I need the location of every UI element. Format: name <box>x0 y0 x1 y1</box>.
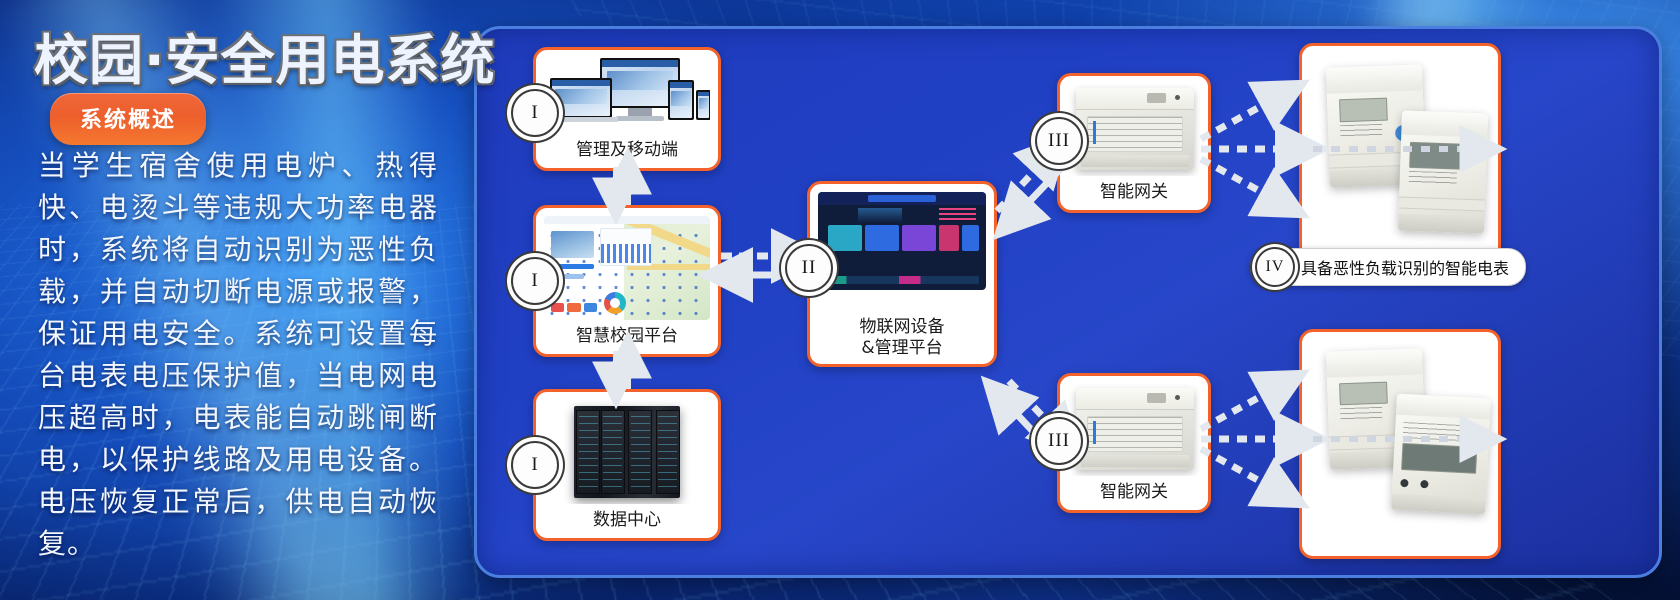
single-phase-meter-icon-2 <box>1398 111 1488 234</box>
badge-numeral-ii-iot: II <box>785 244 833 292</box>
badge-numeral-iii-gateway-top: III <box>1035 117 1083 165</box>
badge-numeral-i-admin: I <box>511 89 559 137</box>
server-rack-icon <box>574 406 680 498</box>
gateway-device-icon <box>1076 388 1194 470</box>
arrow-admin-campus <box>616 167 628 205</box>
node-admin-mobile[interactable]: 管理及移动端 <box>533 47 721 171</box>
node-iot-platform-label-line1: 物联网设备 <box>810 317 994 338</box>
meter-group-bottom[interactable] <box>1299 329 1501 559</box>
node-gateway-bottom-label: 智能网关 <box>1060 482 1208 503</box>
section-badge: 系统概述 <box>50 93 206 145</box>
phone-icon <box>696 90 710 120</box>
gateway-bottom-thumbnail <box>1068 384 1200 476</box>
architecture-diagram-panel: 管理及移动端 I 智慧校园平台 I <box>474 26 1662 578</box>
node-smart-campus[interactable]: 智慧校园平台 <box>533 205 721 357</box>
monitor-stand <box>628 108 652 116</box>
monitor-base <box>616 116 664 121</box>
meter-group-label: 具备恶性负载识别的智能电表 <box>1301 255 1509 279</box>
page-title: 校园·安全用电系统 <box>34 16 454 95</box>
node-iot-platform-label-line2: &管理平台 <box>810 338 994 359</box>
tablet-icon <box>668 80 694 120</box>
arrow-gateway-bottom-meters <box>1201 381 1307 497</box>
badge-numeral-iv: IV <box>1255 247 1295 287</box>
gateway-top-thumbnail <box>1068 84 1200 176</box>
iot-platform-thumbnail <box>818 192 986 290</box>
badge-numeral-i-datacenter: I <box>511 441 559 489</box>
overview-paragraph: 当学生宿舍使用电炉、热得快、电烫斗等违规大功率电器时，系统将自动识别为恶性负载，… <box>38 145 438 565</box>
campus-platform-screenshot <box>544 216 710 320</box>
node-data-center-label: 数据中心 <box>536 510 718 531</box>
gateway-device-icon <box>1076 88 1194 170</box>
data-center-thumbnail <box>544 400 710 504</box>
arrow-gateway-top-meters <box>1201 91 1307 207</box>
node-admin-mobile-label: 管理及移动端 <box>536 140 718 161</box>
laptop-icon <box>550 78 612 118</box>
overview-column: 校园·安全用电系统 系统概述 当学生宿舍使用电炉、热得快、电烫斗等违规大功率电器… <box>0 0 470 600</box>
iot-dashboard-screenshot <box>818 192 986 290</box>
badge-numeral-i-campus: I <box>511 257 559 305</box>
badge-numeral-iii-gateway-bottom: III <box>1035 417 1083 465</box>
node-iot-platform[interactable]: 物联网设备 &管理平台 <box>807 181 997 367</box>
meter-group-callout[interactable]: IV 具备恶性负载识别的智能电表 <box>1250 248 1526 286</box>
three-phase-meter-icon <box>1391 394 1491 515</box>
node-data-center[interactable]: 数据中心 <box>533 389 721 541</box>
smart-campus-thumbnail <box>544 216 710 320</box>
admin-mobile-thumbnail <box>544 58 710 136</box>
node-smart-campus-label: 智慧校园平台 <box>536 326 718 347</box>
node-gateway-top-label: 智能网关 <box>1060 182 1208 203</box>
meter-group-top[interactable] <box>1299 43 1501 273</box>
